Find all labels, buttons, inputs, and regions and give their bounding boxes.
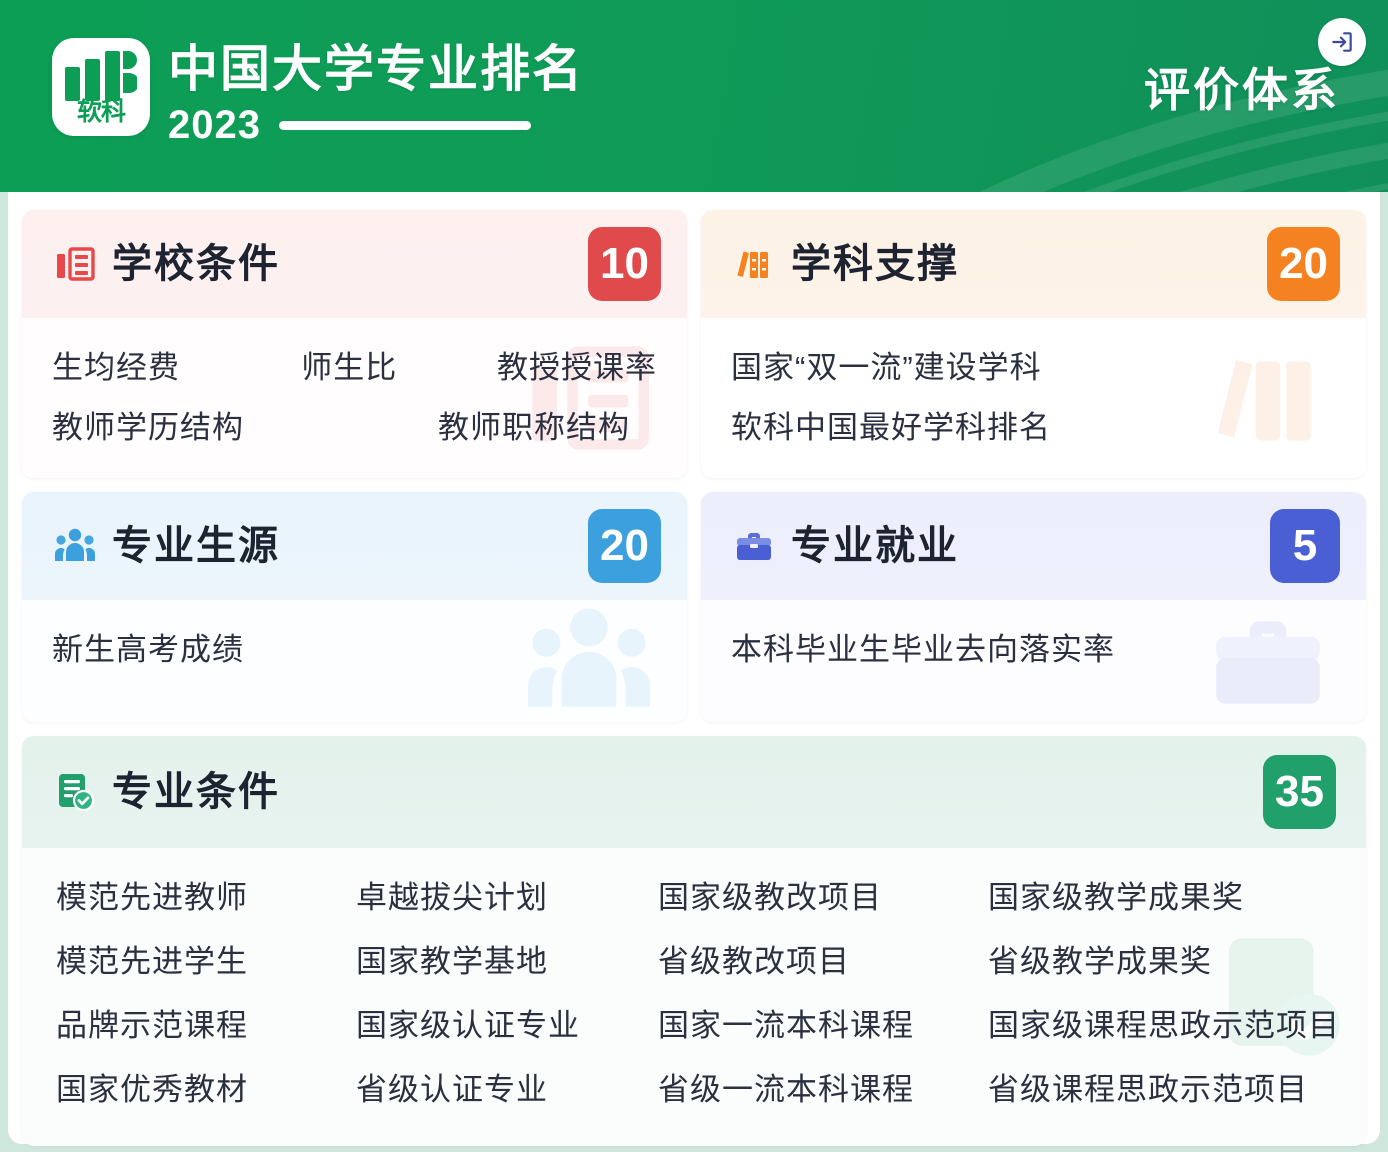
- books-icon: [731, 241, 777, 287]
- indicator-item: 国家级课程思政示范项目: [988, 996, 1340, 1056]
- indicator-item: 国家级教改项目: [658, 868, 988, 928]
- indicator-item: 模范先进学生: [56, 932, 356, 992]
- logo-wordmark: 软科: [63, 97, 139, 127]
- indicator-item: 卓越拔尖计划: [356, 868, 658, 928]
- card-major-employment[interactable]: 专业就业 5 本科毕业生毕业去向落实率: [701, 492, 1366, 722]
- card-body: 本科毕业生毕业去向落实率: [701, 600, 1366, 722]
- card-school-conditions[interactable]: 学校条件 10 生均经费 师生比: [22, 210, 687, 478]
- people-group-icon: [52, 523, 98, 569]
- page-header: 软科 中国大学专业排名 2023 评价体系: [0, 0, 1388, 192]
- login-enter-icon: [1329, 29, 1355, 55]
- title-rule: [279, 121, 531, 130]
- indicator-item: 师生比: [301, 344, 497, 392]
- indicator-item: 省级教改项目: [658, 932, 988, 992]
- indicator-item: 新生高考成绩: [52, 626, 244, 674]
- cards-grid-top: 学校条件 10 生均经费 师生比: [22, 210, 1366, 736]
- card-header: 专业生源 20: [22, 492, 687, 600]
- school-building-icon: [52, 241, 98, 287]
- weight-badge: 20: [1267, 227, 1340, 301]
- indicator-item: 国家级教学成果奖: [988, 868, 1340, 928]
- indicator-item: 教授授课率: [497, 344, 657, 392]
- edition-year: 2023: [168, 104, 261, 146]
- content-panel: 学校条件 10 生均经费 师生比: [8, 192, 1380, 1144]
- card-title: 专业生源: [112, 523, 280, 569]
- indicator-item: 软科中国最好学科排名: [731, 404, 1051, 452]
- indicator-row: 生均经费 师生比 教授授课率: [52, 344, 657, 392]
- weight-badge: 10: [588, 227, 661, 301]
- card-major-conditions[interactable]: 专业条件 35 模范先进教师 卓越拔尖计划 国家级教改项目 国家级教学成果奖 模…: [22, 736, 1366, 1146]
- card-header: 学科支撑 20: [701, 210, 1366, 318]
- card-title: 学校条件: [112, 241, 280, 287]
- indicator-item: 教师学历结构: [52, 404, 438, 452]
- card-title: 学科支撑: [791, 241, 959, 287]
- indicator-item: 省级课程思政示范项目: [988, 1060, 1340, 1120]
- evaluation-system-page: 软科 中国大学专业排名 2023 评价体系: [0, 0, 1388, 1152]
- card-body: 模范先进教师 卓越拔尖计划 国家级教改项目 国家级教学成果奖 模范先进学生 国家…: [22, 848, 1366, 1146]
- softscience-logo: 软科: [52, 38, 150, 136]
- card-header: 专业条件 35: [22, 736, 1366, 848]
- card-title: 专业条件: [112, 769, 280, 815]
- indicator-item: 教师职称结构: [438, 404, 630, 452]
- card-body: 国家“双一流”建设学科 软科中国最好学科排名: [701, 318, 1366, 478]
- document-check-icon: [52, 769, 98, 815]
- indicator-item: 本科毕业生毕业去向落实率: [731, 626, 1115, 674]
- indicator-row: 国家“双一流”建设学科: [731, 344, 1336, 392]
- briefcase-icon: [731, 523, 777, 569]
- indicator-item: 国家优秀教材: [56, 1060, 356, 1120]
- indicator-item: 国家一流本科课程: [658, 996, 988, 1056]
- indicator-item: 生均经费: [52, 344, 301, 392]
- indicator-row: 本科毕业生毕业去向落实率: [731, 626, 1336, 674]
- weight-badge: 5: [1270, 509, 1340, 583]
- indicator-item: 国家“双一流”建设学科: [731, 344, 1042, 392]
- indicator-grid: 模范先进教师 卓越拔尖计划 国家级教改项目 国家级教学成果奖 模范先进学生 国家…: [56, 868, 1332, 1120]
- indicator-item: 省级一流本科课程: [658, 1060, 988, 1120]
- card-discipline-support[interactable]: 学科支撑 20 国家“双一流”建设学科 软科中国最好学科: [701, 210, 1366, 478]
- indicator-item: 国家级认证专业: [356, 996, 658, 1056]
- indicator-row: 软科中国最好学科排名: [731, 404, 1336, 452]
- card-body: 生均经费 师生比 教授授课率 教师学历结构 教师职称结构: [22, 318, 687, 478]
- indicator-item: 国家教学基地: [356, 932, 658, 992]
- indicator-item: 品牌示范课程: [56, 996, 356, 1056]
- weight-badge: 20: [588, 509, 661, 583]
- indicator-item: 省级认证专业: [356, 1060, 658, 1120]
- indicator-item: 模范先进教师: [56, 868, 356, 928]
- bar-chart-logo-icon: [65, 51, 137, 101]
- page-title: 中国大学专业排名: [168, 40, 584, 98]
- indicator-row: 新生高考成绩: [52, 626, 657, 674]
- indicator-row: 教师学历结构 教师职称结构: [52, 404, 657, 452]
- card-header: 学校条件 10: [22, 210, 687, 318]
- login-button[interactable]: [1318, 18, 1366, 66]
- right-column: 学科支撑 20 国家“双一流”建设学科 软科中国最好学科: [701, 210, 1366, 736]
- weight-badge: 35: [1263, 755, 1336, 829]
- section-title: 评价体系: [1144, 62, 1340, 118]
- card-title: 专业就业: [791, 523, 959, 569]
- brand: 软科 中国大学专业排名 2023: [52, 38, 584, 146]
- card-body: 新生高考成绩: [22, 600, 687, 722]
- card-header: 专业就业 5: [701, 492, 1366, 600]
- left-column: 学校条件 10 生均经费 师生比: [22, 210, 687, 736]
- indicator-item: 省级教学成果奖: [988, 932, 1340, 992]
- card-major-students[interactable]: 专业生源 20 新生高考成绩: [22, 492, 687, 722]
